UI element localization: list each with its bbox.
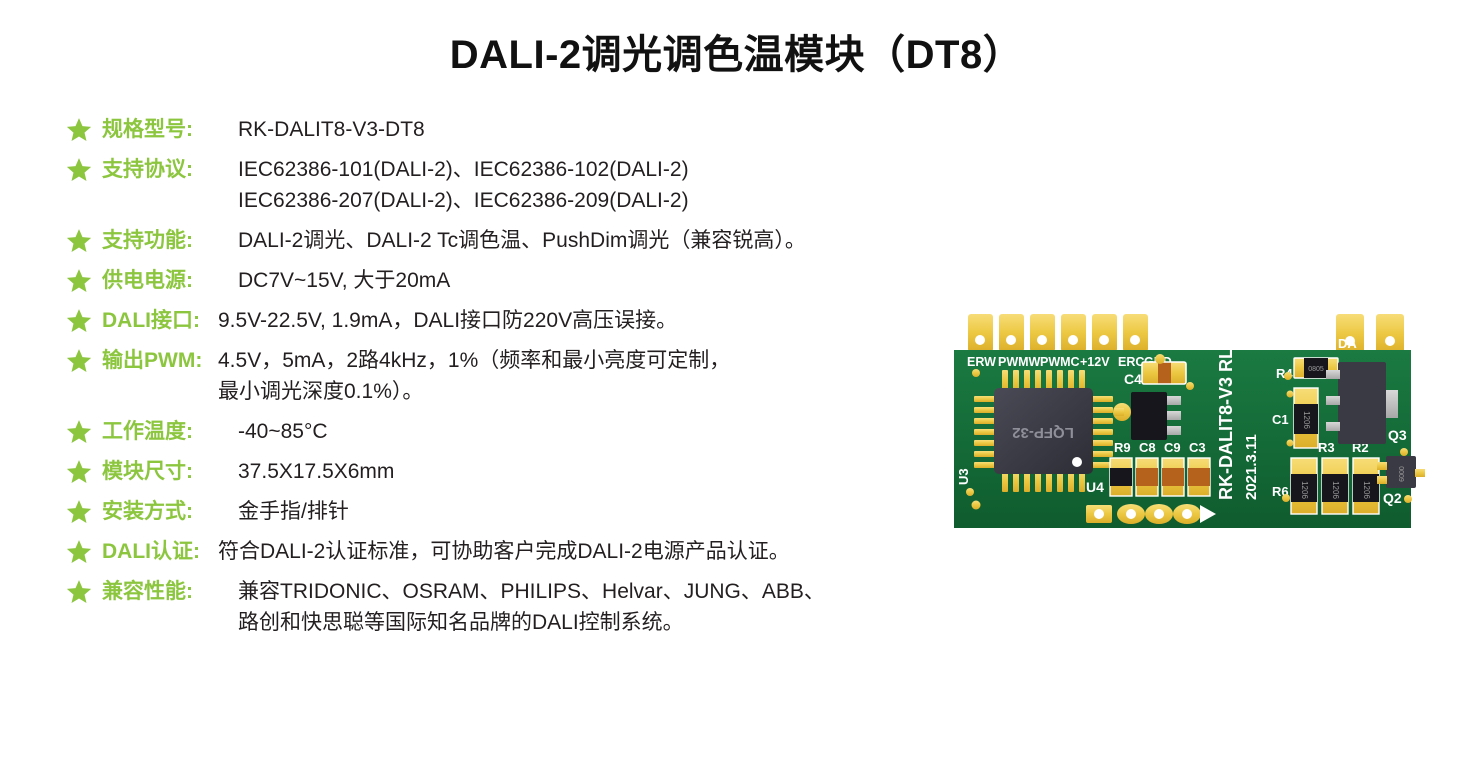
spec-row: 安装方式:金手指/排针 [66,496,946,527]
spec-value-line: DC7V~15V, 大于20mA [238,265,946,296]
svg-text:1206: 1206 [1331,481,1340,499]
spec-value: 37.5X17.5X6mm [238,456,946,487]
star-icon [66,117,92,143]
star-icon [66,308,92,334]
spec-value: 9.5V-22.5V, 1.9mA，DALI接口防220V高压误接。 [218,305,946,336]
spec-value-line: 4.5V，5mA，2路4kHz，1%（频率和最小亮度可定制， [218,345,946,376]
da-pad-label: DA [1338,336,1357,351]
silkscreen-part-number: RK-DALIT8-V3 RL [1216,348,1236,500]
u3-designator: U3 [956,468,971,485]
spec-value-line: 路创和快思聪等国际知名品牌的DALI控制系统。 [238,607,946,638]
u4-designator: U4 [1086,479,1104,495]
star-icon [66,228,92,254]
svg-text:ERC: ERC [1118,355,1144,369]
svg-text:C3: C3 [1189,440,1206,455]
spec-label: 输出PWM: [102,345,218,376]
pcb-module-illustration: ERW PWMW PWMC +12V ERC GND DA [946,300,1446,550]
specification-list: 规格型号:RK-DALIT8-V3-DT8支持协议:IEC62386-101(D… [66,114,946,647]
star-icon [66,579,92,605]
svg-text:0805: 0805 [1308,366,1324,373]
svg-text:R9: R9 [1114,440,1131,455]
svg-text:1206: 1206 [1300,481,1309,499]
spec-label: DALI接口: [102,305,218,336]
spec-value-line: -40~85°C [238,416,946,447]
spec-value-line: 兼容TRIDONIC、OSRAM、PHILIPS、Helvar、JUNG、ABB… [238,576,946,607]
spec-label: 安装方式: [102,496,238,527]
svg-text:1206: 1206 [1362,481,1371,499]
svg-text:C9: C9 [1164,440,1181,455]
svg-text:PWMC: PWMC [1040,355,1080,369]
svg-text:Q3: Q3 [1388,427,1407,443]
silkscreen-date: 2021.3.11 [1243,434,1260,500]
spec-row: 支持协议:IEC62386-101(DALI-2)、IEC62386-102(D… [66,154,946,216]
spec-row: 输出PWM:4.5V，5mA，2路4kHz，1%（频率和最小亮度可定制，最小调光… [66,345,946,407]
svg-text:Q2: Q2 [1383,490,1402,506]
svg-text:C8: C8 [1139,440,1156,455]
spec-value: 金手指/排针 [238,496,946,527]
svg-text:0009: 0009 [1397,466,1404,482]
pin-labels: ERW PWMW PWMC +12V ERC GND [967,355,1172,369]
spec-label: 支持协议: [102,154,238,185]
spec-row: 模块尺寸:37.5X17.5X6mm [66,456,946,487]
spec-value: RK-DALIT8-V3-DT8 [238,114,946,145]
spec-row: 供电电源:DC7V~15V, 大于20mA [66,265,946,296]
spec-row: 兼容性能:兼容TRIDONIC、OSRAM、PHILIPS、Helvar、JUN… [66,576,946,638]
svg-text:C1: C1 [1272,412,1289,427]
spec-row: 规格型号:RK-DALIT8-V3-DT8 [66,114,946,145]
spec-label: 模块尺寸: [102,456,238,487]
svg-text:PWMW: PWMW [998,355,1041,369]
spec-value-line: IEC62386-207(DALI-2)、IEC62386-209(DALI-2… [238,185,946,216]
svg-text:LQFP-32: LQFP-32 [1012,424,1074,441]
star-icon [66,157,92,183]
spec-label: 支持功能: [102,225,238,256]
svg-text:ERW: ERW [967,355,996,369]
spec-value: 4.5V，5mA，2路4kHz，1%（频率和最小亮度可定制，最小调光深度0.1%… [218,345,946,407]
spec-value-line: IEC62386-101(DALI-2)、IEC62386-102(DALI-2… [238,154,946,185]
svg-text:1206: 1206 [1302,411,1311,429]
spec-value-line: 金手指/排针 [238,496,946,527]
spec-value-line: RK-DALIT8-V3-DT8 [238,114,946,145]
spec-value-line: 符合DALI-2认证标准，可协助客户完成DALI-2电源产品认证。 [218,536,946,567]
svg-text:C4: C4 [1124,371,1142,387]
spec-row: DALI认证:符合DALI-2认证标准，可协助客户完成DALI-2电源产品认证。 [66,536,946,567]
spec-label: DALI认证: [102,536,218,567]
spec-value-line: 37.5X17.5X6mm [238,456,946,487]
spec-value: IEC62386-101(DALI-2)、IEC62386-102(DALI-2… [238,154,946,216]
spec-row: 工作温度:-40~85°C [66,416,946,447]
spec-label: 兼容性能: [102,576,238,607]
edge-connector-fingers [968,314,1148,352]
spec-value: 兼容TRIDONIC、OSRAM、PHILIPS、Helvar、JUNG、ABB… [238,576,946,638]
star-icon [66,459,92,485]
spec-row: 支持功能:DALI-2调光、DALI-2 Tc调色温、PushDim调光（兼容锐… [66,225,946,256]
spec-value: -40~85°C [238,416,946,447]
spec-value: 符合DALI-2认证标准，可协助客户完成DALI-2电源产品认证。 [218,536,946,567]
spec-value: DALI-2调光、DALI-2 Tc调色温、PushDim调光（兼容锐高）。 [238,225,946,256]
bottom-test-pads [1086,504,1216,524]
star-icon [66,348,92,374]
spec-value-line: 最小调光深度0.1%）。 [218,376,946,407]
svg-text:+12V: +12V [1080,355,1110,369]
page-title: DALI-2调光调色温模块（DT8） [0,22,1473,80]
spec-value-line: DALI-2调光、DALI-2 Tc调色温、PushDim调光（兼容锐高）。 [238,225,946,256]
spec-row: DALI接口:9.5V-22.5V, 1.9mA，DALI接口防220V高压误接… [66,305,946,336]
svg-text:R3: R3 [1318,440,1335,455]
spec-value-line: 9.5V-22.5V, 1.9mA，DALI接口防220V高压误接。 [218,305,946,336]
star-icon [66,419,92,445]
spec-label: 工作温度: [102,416,238,447]
star-icon [66,268,92,294]
star-icon [66,499,92,525]
spec-value: DC7V~15V, 大于20mA [238,265,946,296]
spec-label: 规格型号: [102,114,238,145]
star-icon [66,539,92,565]
spec-label: 供电电源: [102,265,238,296]
